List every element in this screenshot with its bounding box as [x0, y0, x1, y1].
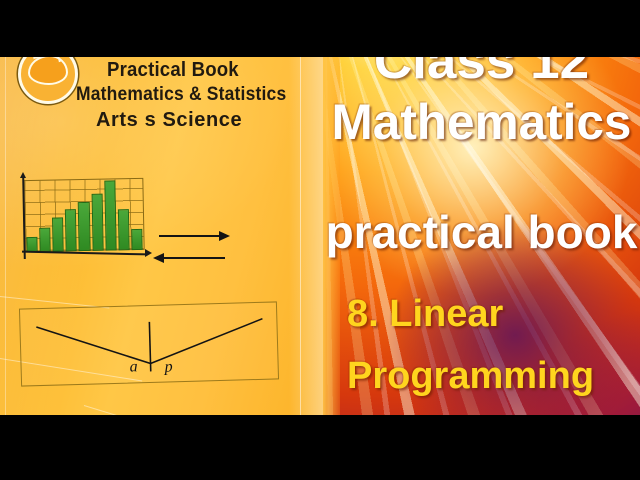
- cover-title-line-3: Arts s Science: [96, 109, 242, 132]
- cover-title-line-1: Practical Book: [107, 59, 239, 82]
- title-subject-line: Mathematics: [325, 97, 639, 147]
- double-arrow-diagram: [155, 217, 230, 265]
- angle-diagram-lines: [20, 302, 278, 387]
- histogram-x-axis: [22, 251, 148, 256]
- histogram-chart: [14, 175, 150, 267]
- letterbox-bottom: [0, 415, 640, 480]
- title-chapter-number-line: 8. Linear: [323, 295, 640, 333]
- histogram-bar: [78, 202, 90, 251]
- histogram-bars: [25, 180, 142, 252]
- histogram-y-axis-arrow-icon: [20, 172, 26, 178]
- histogram-bar: [65, 209, 77, 251]
- title-overlay-panel: Class 12 Mathematics practical book 8. L…: [323, 57, 640, 415]
- histogram-bar: [52, 218, 64, 252]
- angle-diagram: a p: [19, 301, 279, 386]
- mango-leaf-circle-logo-icon: [18, 57, 78, 104]
- histogram-bar: [39, 228, 51, 252]
- title-book-line: practical book: [323, 209, 640, 255]
- histogram-bar: [118, 210, 130, 251]
- video-frame: Practical Book Mathematics & Statistics …: [0, 0, 640, 480]
- page-edge-vertical-left: [5, 57, 6, 415]
- page-fold-highlight: [289, 57, 323, 415]
- arrow-right-line: [159, 235, 221, 237]
- arrow-left-icon: [153, 253, 164, 263]
- letterbox-top: [0, 0, 640, 57]
- book-cover-photo: Practical Book Mathematics & Statistics …: [0, 57, 323, 415]
- page-edge-diagonal-3: [84, 405, 247, 415]
- histogram-x-axis-arrow-icon: [145, 249, 152, 257]
- cover-title-line-2: Mathematics & Statistics: [76, 84, 286, 106]
- histogram-bar: [91, 193, 103, 251]
- video-content-band: Practical Book Mathematics & Statistics …: [0, 57, 640, 415]
- histogram-bar: [104, 180, 116, 250]
- title-class-line: Class 12: [323, 57, 640, 87]
- angle-label-a: a: [129, 358, 137, 376]
- histogram-bar: [131, 229, 143, 250]
- angle-label-p: p: [164, 358, 172, 376]
- arrow-left-line: [163, 257, 225, 259]
- title-chapter-topic-line: Programming: [323, 357, 640, 395]
- arrow-right-icon: [219, 231, 230, 241]
